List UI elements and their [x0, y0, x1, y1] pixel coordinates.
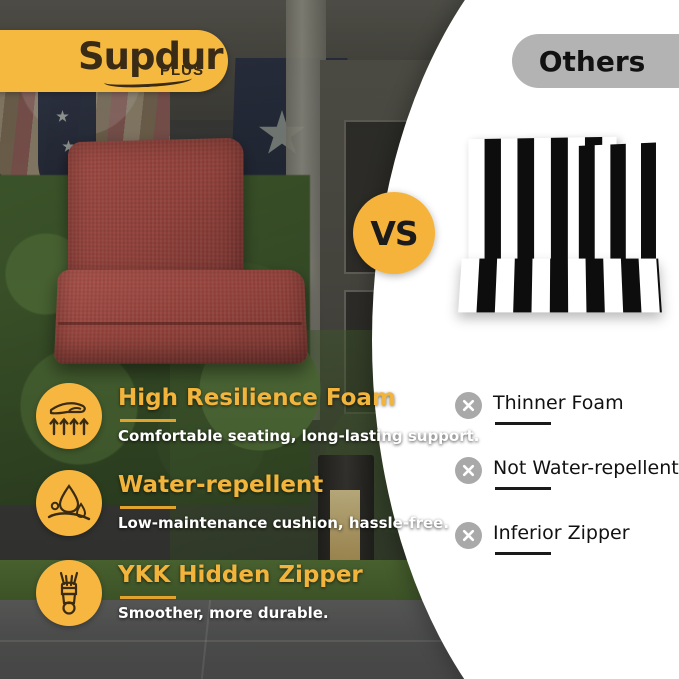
feature-subtitle: Low-maintenance cushion, hassle-free.: [118, 514, 449, 532]
foam-hand-press-icon: [36, 383, 102, 449]
others-white-panel: [372, 0, 679, 679]
con-label: Thinner Foam: [493, 392, 624, 414]
cushion-back-pillow: [68, 138, 243, 291]
feature-subtitle: Smoother, more durable.: [118, 604, 329, 622]
con-accent-rule: [495, 552, 551, 555]
striped-back-side: [579, 142, 662, 270]
our-cushion-product-image: [52, 140, 324, 372]
con-accent-rule: [495, 487, 551, 490]
comparison-infographic: Supdur PLUS Others VS High Resilience Fo…: [0, 0, 679, 679]
feature-title: YKK Hidden Zipper: [118, 562, 363, 588]
others-badge-label: Others: [512, 34, 672, 88]
feature-accent-rule: [120, 596, 176, 599]
x-circle-icon: [455, 457, 482, 484]
con-label: Not Water-repellent: [493, 457, 679, 479]
feature-title: High Resilience Foam: [118, 385, 396, 411]
con-accent-rule: [495, 422, 551, 425]
feature-accent-rule: [120, 419, 176, 422]
vs-badge: VS: [353, 192, 435, 274]
cushion-seat-pillow: [54, 270, 308, 364]
water-droplet-repel-icon: [36, 470, 102, 536]
striped-seat-pillow: [458, 259, 662, 313]
cushion-welt-seam: [58, 322, 302, 325]
x-circle-icon: [455, 392, 482, 419]
feature-subtitle: Comfortable seating, long-lasting suppor…: [118, 427, 480, 445]
feature-accent-rule: [120, 506, 176, 509]
zipper-icon: [36, 560, 102, 626]
brand-logo-plus-text: PLUS: [160, 62, 204, 79]
x-circle-icon: [455, 522, 482, 549]
competitor-cushion-product-image: [458, 138, 670, 318]
con-label: Inferior Zipper: [493, 522, 630, 544]
feature-title: Water-repellent: [118, 472, 323, 498]
